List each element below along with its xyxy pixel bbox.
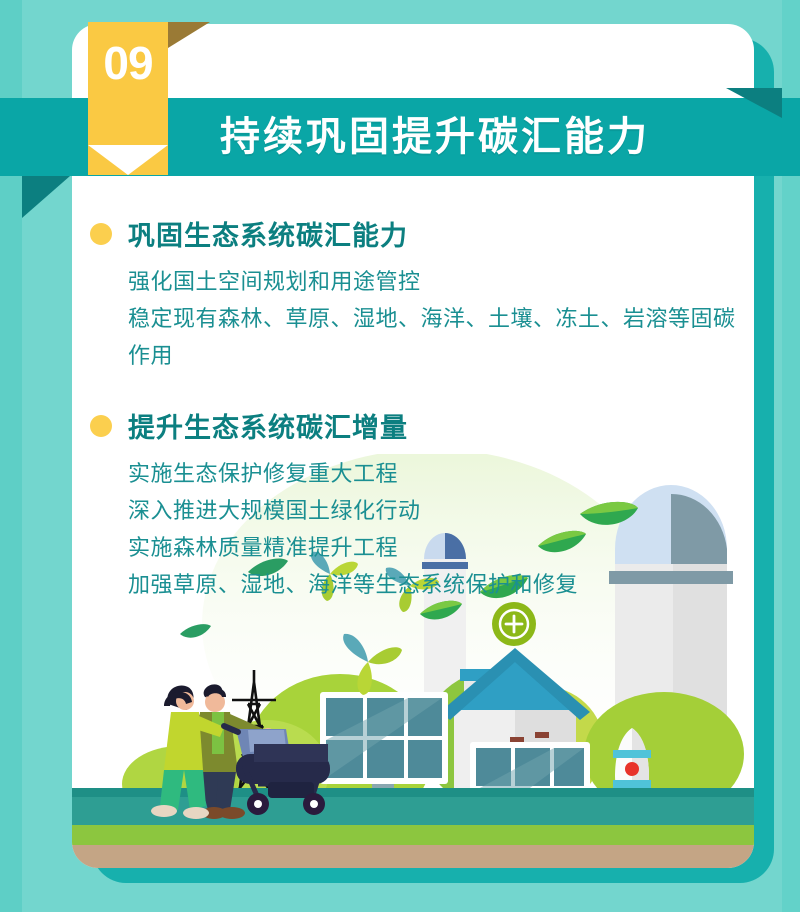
section-1-line-2: 稳定现有森林、草原、湿地、海洋、土壤、冻土、岩溶等固碳作用 xyxy=(72,300,754,374)
section-2: 提升生态系统碳汇增量 实施生态保护修复重大工程 深入推进大规模国土绿化行动 实施… xyxy=(72,406,754,603)
section-1-line-1: 强化国土空间规划和用途管控 xyxy=(72,263,754,300)
section-2-line-1: 实施生态保护修复重大工程 xyxy=(72,455,754,492)
bullet-dot-icon xyxy=(90,223,112,245)
section-1-heading-text: 巩固生态系统碳汇能力 xyxy=(128,221,408,251)
section-2-heading: 提升生态系统碳汇增量 xyxy=(72,406,754,445)
section-1: 巩固生态系统碳汇能力 强化国土空间规划和用途管控 稳定现有森林、草原、湿地、海洋… xyxy=(72,214,754,374)
poster-root: 巩固生态系统碳汇能力 强化国土空间规划和用途管控 稳定现有森林、草原、湿地、海洋… xyxy=(0,0,800,912)
section-1-heading: 巩固生态系统碳汇能力 xyxy=(72,214,754,253)
ribbon-fold-shadow xyxy=(168,22,210,48)
bullet-dot-icon xyxy=(90,415,112,437)
section-2-line-2: 深入推进大规模国土绿化行动 xyxy=(72,492,754,529)
section-2-line-3: 实施森林质量精准提升工程 xyxy=(72,529,754,566)
ribbon-notch xyxy=(88,145,168,175)
banner-left-fold-shadow xyxy=(22,176,70,218)
content-sections: 巩固生态系统碳汇能力 强化国土空间规划和用途管控 稳定现有森林、草原、湿地、海洋… xyxy=(72,214,754,603)
plus-circle-badge-icon xyxy=(492,602,536,646)
section-2-heading-text: 提升生态系统碳汇增量 xyxy=(128,413,408,443)
section-gap xyxy=(72,374,754,406)
section-number: 09 xyxy=(88,36,168,90)
section-2-line-4: 加强草原、湿地、海洋等生态系统保护和修复 xyxy=(72,566,754,603)
